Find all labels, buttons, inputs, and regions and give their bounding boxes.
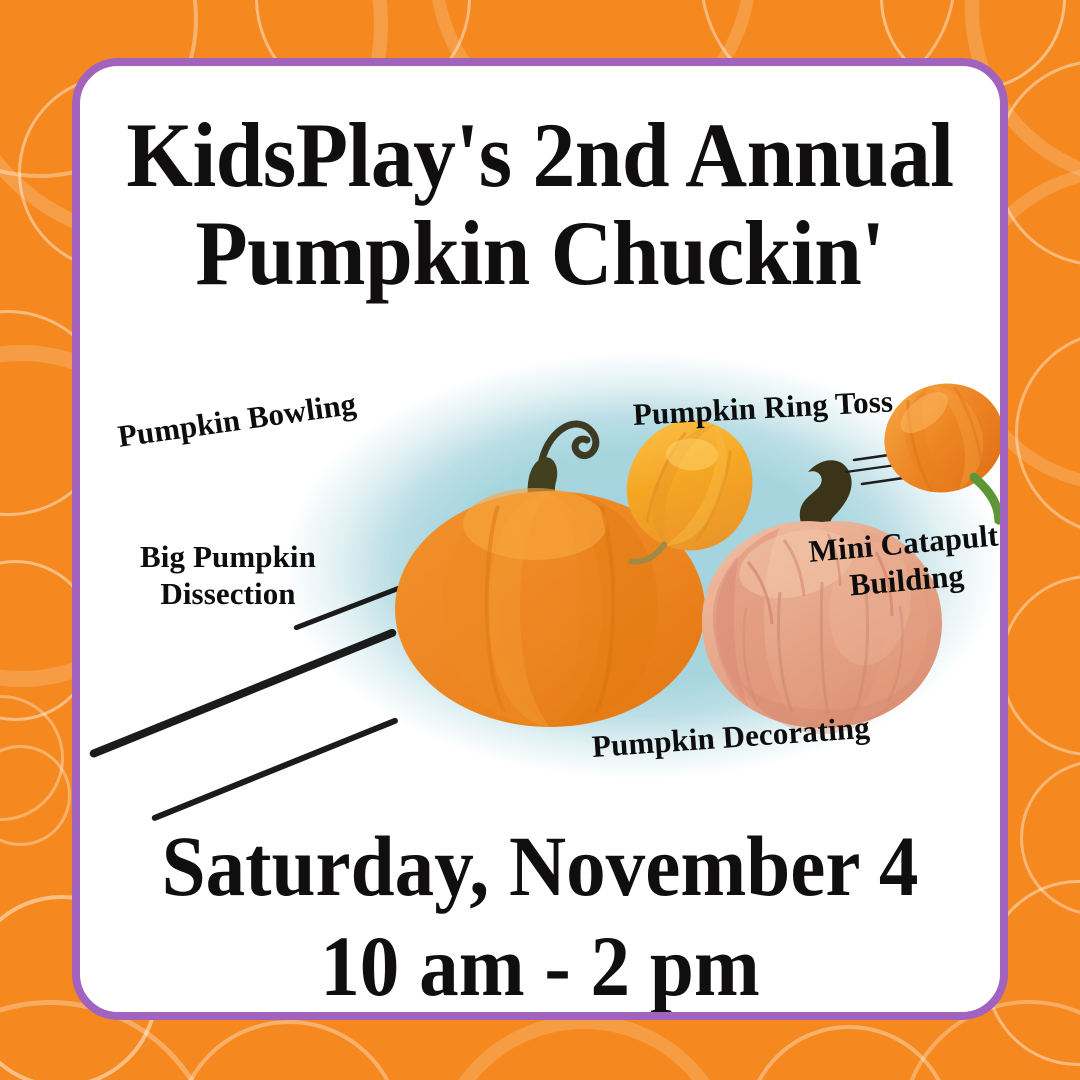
label-line-1: Big Pumpkin bbox=[140, 539, 316, 574]
time-line: 10 am - 2 pm bbox=[117, 916, 963, 1016]
illustration-area: Pumpkin Bowling Big Pumpkin Dissection P… bbox=[80, 356, 1000, 806]
bg-circle bbox=[175, 1020, 403, 1080]
pumpkin-chuckin-poster: KidsPlay's 2nd Annual Pumpkin Chuckin' bbox=[0, 0, 1080, 1080]
poster-date-time: Saturday, November 4 10 am - 2 pm bbox=[117, 816, 963, 1016]
poster-title: KidsPlay's 2nd Annual Pumpkin Chuckin' bbox=[112, 106, 968, 302]
title-line-1: KidsPlay's 2nd Annual bbox=[112, 106, 968, 204]
date-line: Saturday, November 4 bbox=[117, 816, 963, 916]
label-line-2: Dissection bbox=[160, 576, 295, 611]
bg-circle bbox=[430, 1015, 738, 1080]
poster-card: KidsPlay's 2nd Annual Pumpkin Chuckin' bbox=[72, 58, 1008, 1020]
bg-circle bbox=[1000, 575, 1080, 756]
title-line-2: Pumpkin Chuckin' bbox=[112, 204, 968, 302]
activity-label-big-pumpkin-dissection: Big Pumpkin Dissection bbox=[118, 538, 338, 612]
